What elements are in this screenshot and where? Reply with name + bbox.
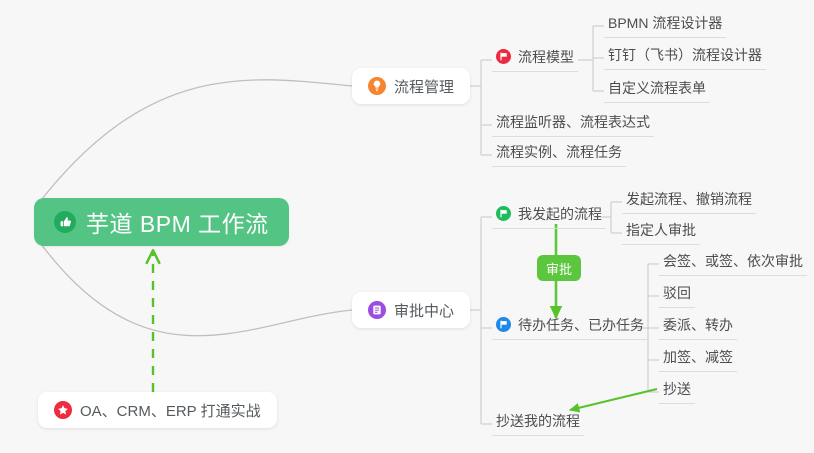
mindmap-canvas: 芋道 BPM 工作流 流程管理 流程模型 BPMN 流程设计器 钉钉（飞书 xyxy=(0,0,814,453)
node-delegate-transfer[interactable]: 委派、转办 xyxy=(659,314,737,340)
node-process-model-label: 流程模型 xyxy=(518,47,574,67)
node-delegate-transfer-label: 委派、转办 xyxy=(663,315,733,335)
node-process-listener-label: 流程监听器、流程表达式 xyxy=(496,112,650,132)
node-cc-to-me-label: 抄送我的流程 xyxy=(496,411,580,431)
node-approval-center-label: 审批中心 xyxy=(394,300,454,321)
node-add-remove-sign-label: 加签、减签 xyxy=(663,347,733,367)
root-node[interactable]: 芋道 BPM 工作流 xyxy=(34,198,289,246)
node-my-initiated-label: 我发起的流程 xyxy=(518,204,602,224)
root-label: 芋道 BPM 工作流 xyxy=(86,205,269,239)
doc-purple-icon xyxy=(368,301,386,319)
node-approval-center[interactable]: 审批中心 xyxy=(352,292,470,328)
node-reject[interactable]: 驳回 xyxy=(659,282,695,308)
node-process-model[interactable]: 流程模型 xyxy=(492,46,578,72)
arrow-cc-to-cc-mine xyxy=(570,389,657,410)
node-todo-done-tasks-label: 待办任务、已办任务 xyxy=(518,315,644,335)
approval-tag[interactable]: 审批 xyxy=(537,255,581,281)
node-multi-sign[interactable]: 会签、或签、依次审批 xyxy=(659,250,807,276)
node-dingtalk-designer[interactable]: 钉钉（飞书）流程设计器 xyxy=(604,44,766,70)
node-todo-done-tasks[interactable]: 待办任务、已办任务 xyxy=(492,314,648,340)
node-bpmn-designer-label: BPMN 流程设计器 xyxy=(608,13,722,33)
node-multi-sign-label: 会签、或签、依次审批 xyxy=(663,251,803,271)
node-custom-form-label: 自定义流程表单 xyxy=(608,78,706,98)
node-start-cancel-process[interactable]: 发起流程、撤销流程 xyxy=(622,188,756,214)
flag-green-icon xyxy=(496,206,511,221)
node-assignee-approval[interactable]: 指定人审批 xyxy=(622,219,700,245)
node-my-initiated[interactable]: 我发起的流程 xyxy=(492,203,606,229)
link-root-to-process-management xyxy=(38,80,352,204)
node-add-remove-sign[interactable]: 加签、减签 xyxy=(659,346,737,372)
star-red-icon xyxy=(54,401,72,419)
node-process-listener[interactable]: 流程监听器、流程表达式 xyxy=(492,111,654,137)
node-cc-to-me[interactable]: 抄送我的流程 xyxy=(492,410,584,436)
node-start-cancel-process-label: 发起流程、撤销流程 xyxy=(626,189,752,209)
node-process-instance[interactable]: 流程实例、流程任务 xyxy=(492,141,626,167)
node-assignee-approval-label: 指定人审批 xyxy=(626,220,696,240)
approval-tag-label: 审批 xyxy=(546,259,572,278)
node-integration-practice[interactable]: OA、CRM、ERP 打通实战 xyxy=(38,392,277,428)
node-dingtalk-designer-label: 钉钉（飞书）流程设计器 xyxy=(608,45,762,65)
node-bpmn-designer[interactable]: BPMN 流程设计器 xyxy=(604,12,726,38)
lightbulb-icon xyxy=(368,77,386,95)
flag-red-icon xyxy=(496,49,511,64)
node-process-management-label: 流程管理 xyxy=(394,76,454,97)
node-cc[interactable]: 抄送 xyxy=(659,378,695,404)
node-reject-label: 驳回 xyxy=(663,283,691,303)
node-custom-form[interactable]: 自定义流程表单 xyxy=(604,77,710,103)
thumbs-up-icon xyxy=(54,211,76,233)
node-process-management[interactable]: 流程管理 xyxy=(352,68,470,104)
node-integration-practice-label: OA、CRM、ERP 打通实战 xyxy=(80,400,261,421)
node-process-instance-label: 流程实例、流程任务 xyxy=(496,142,622,162)
link-root-to-approval-center xyxy=(38,240,352,336)
flag-blue-icon xyxy=(496,317,511,332)
node-cc-label: 抄送 xyxy=(663,379,691,399)
